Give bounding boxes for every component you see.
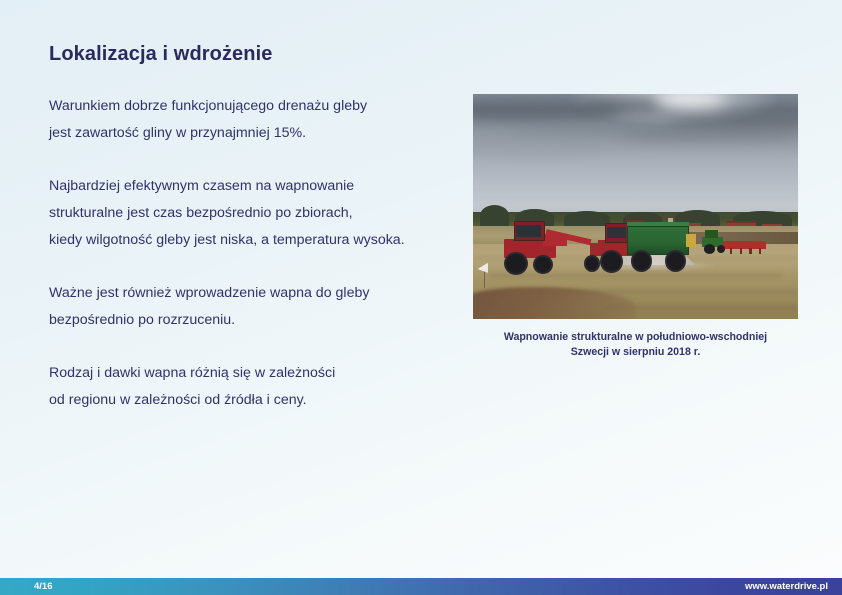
spreader-spout xyxy=(686,234,696,248)
red-tractor-hood xyxy=(543,234,567,246)
paragraph-line: bezpośrednio po rozrzuceniu. xyxy=(49,307,459,334)
tractor-wheel xyxy=(717,245,725,253)
cloud-icon xyxy=(623,127,799,142)
paragraph-3: Ważne jest również wprowadzenie wapna do… xyxy=(49,280,459,334)
paragraph-2: Najbardziej efektywnym czasem na wapnowa… xyxy=(49,173,459,254)
paragraph-line: kiedy wilgotność gleby jest niska, a tem… xyxy=(49,227,459,254)
sky-region xyxy=(473,94,798,221)
slide-body-text: Warunkiem dobrze funkcjonującego drenażu… xyxy=(49,93,459,414)
field-streak xyxy=(489,274,782,277)
tractor-wheel xyxy=(533,255,553,274)
spreader-wheel xyxy=(631,250,652,271)
figure-caption: Wapnowanie strukturalne w południowo-wsc… xyxy=(473,330,798,360)
red-tractor-window xyxy=(516,225,540,237)
paragraph-4: Rodzaj i dawki wapna różnią się w zależn… xyxy=(49,360,459,414)
paragraph-line: Warunkiem dobrze funkcjonującego drenażu… xyxy=(49,93,459,120)
paragraph-line: strukturalne jest czas bezpośrednio po z… xyxy=(49,200,459,227)
figure-caption-line-2: Szwecji w sierpniu 2018 r. xyxy=(473,345,798,360)
tree-icon xyxy=(480,205,509,227)
paragraph-line: Rodzaj i dawki wapna różnią się w zależn… xyxy=(49,360,459,387)
tractor-wheel xyxy=(584,255,600,272)
paragraph-1: Warunkiem dobrze funkcjonującego drenażu… xyxy=(49,93,459,147)
green-tractor-cab xyxy=(705,230,718,238)
paragraph-line: Najbardziej efektywnym czasem na wapnowa… xyxy=(49,173,459,200)
figure-image xyxy=(473,94,798,319)
page-number: 4/16 xyxy=(34,581,53,592)
field-photo-lime-spreading xyxy=(473,94,798,319)
spreader-wheel xyxy=(665,250,686,271)
farm-building-roof xyxy=(727,221,756,223)
tractor-wheel xyxy=(600,250,623,273)
paragraph-line: od regionu w zależności od źródła i ceny… xyxy=(49,387,459,414)
implement-tine xyxy=(749,248,751,254)
implement-tine xyxy=(740,248,742,254)
figure-caption-line-1: Wapnowanie strukturalne w południowo-wsc… xyxy=(473,330,798,345)
implement-tine xyxy=(759,248,761,254)
tree-icon xyxy=(564,211,610,226)
red-tractor-2-window xyxy=(607,227,626,238)
paragraph-line: Ważne jest również wprowadzenie wapna do… xyxy=(49,280,459,307)
tractor-wheel xyxy=(704,244,715,254)
footer-website-link[interactable]: www.waterdrive.pl xyxy=(745,581,828,592)
paragraph-line: jest zawartość gliny w przynajmniej 15%. xyxy=(49,120,459,147)
implement-tine xyxy=(730,248,732,254)
slide-footer: 4/16 www.waterdrive.pl xyxy=(0,578,842,595)
presentation-slide: Lokalizacja i wdrożenie Warunkiem dobrze… xyxy=(0,0,842,595)
page-title: Lokalizacja i wdrożenie xyxy=(49,43,272,66)
